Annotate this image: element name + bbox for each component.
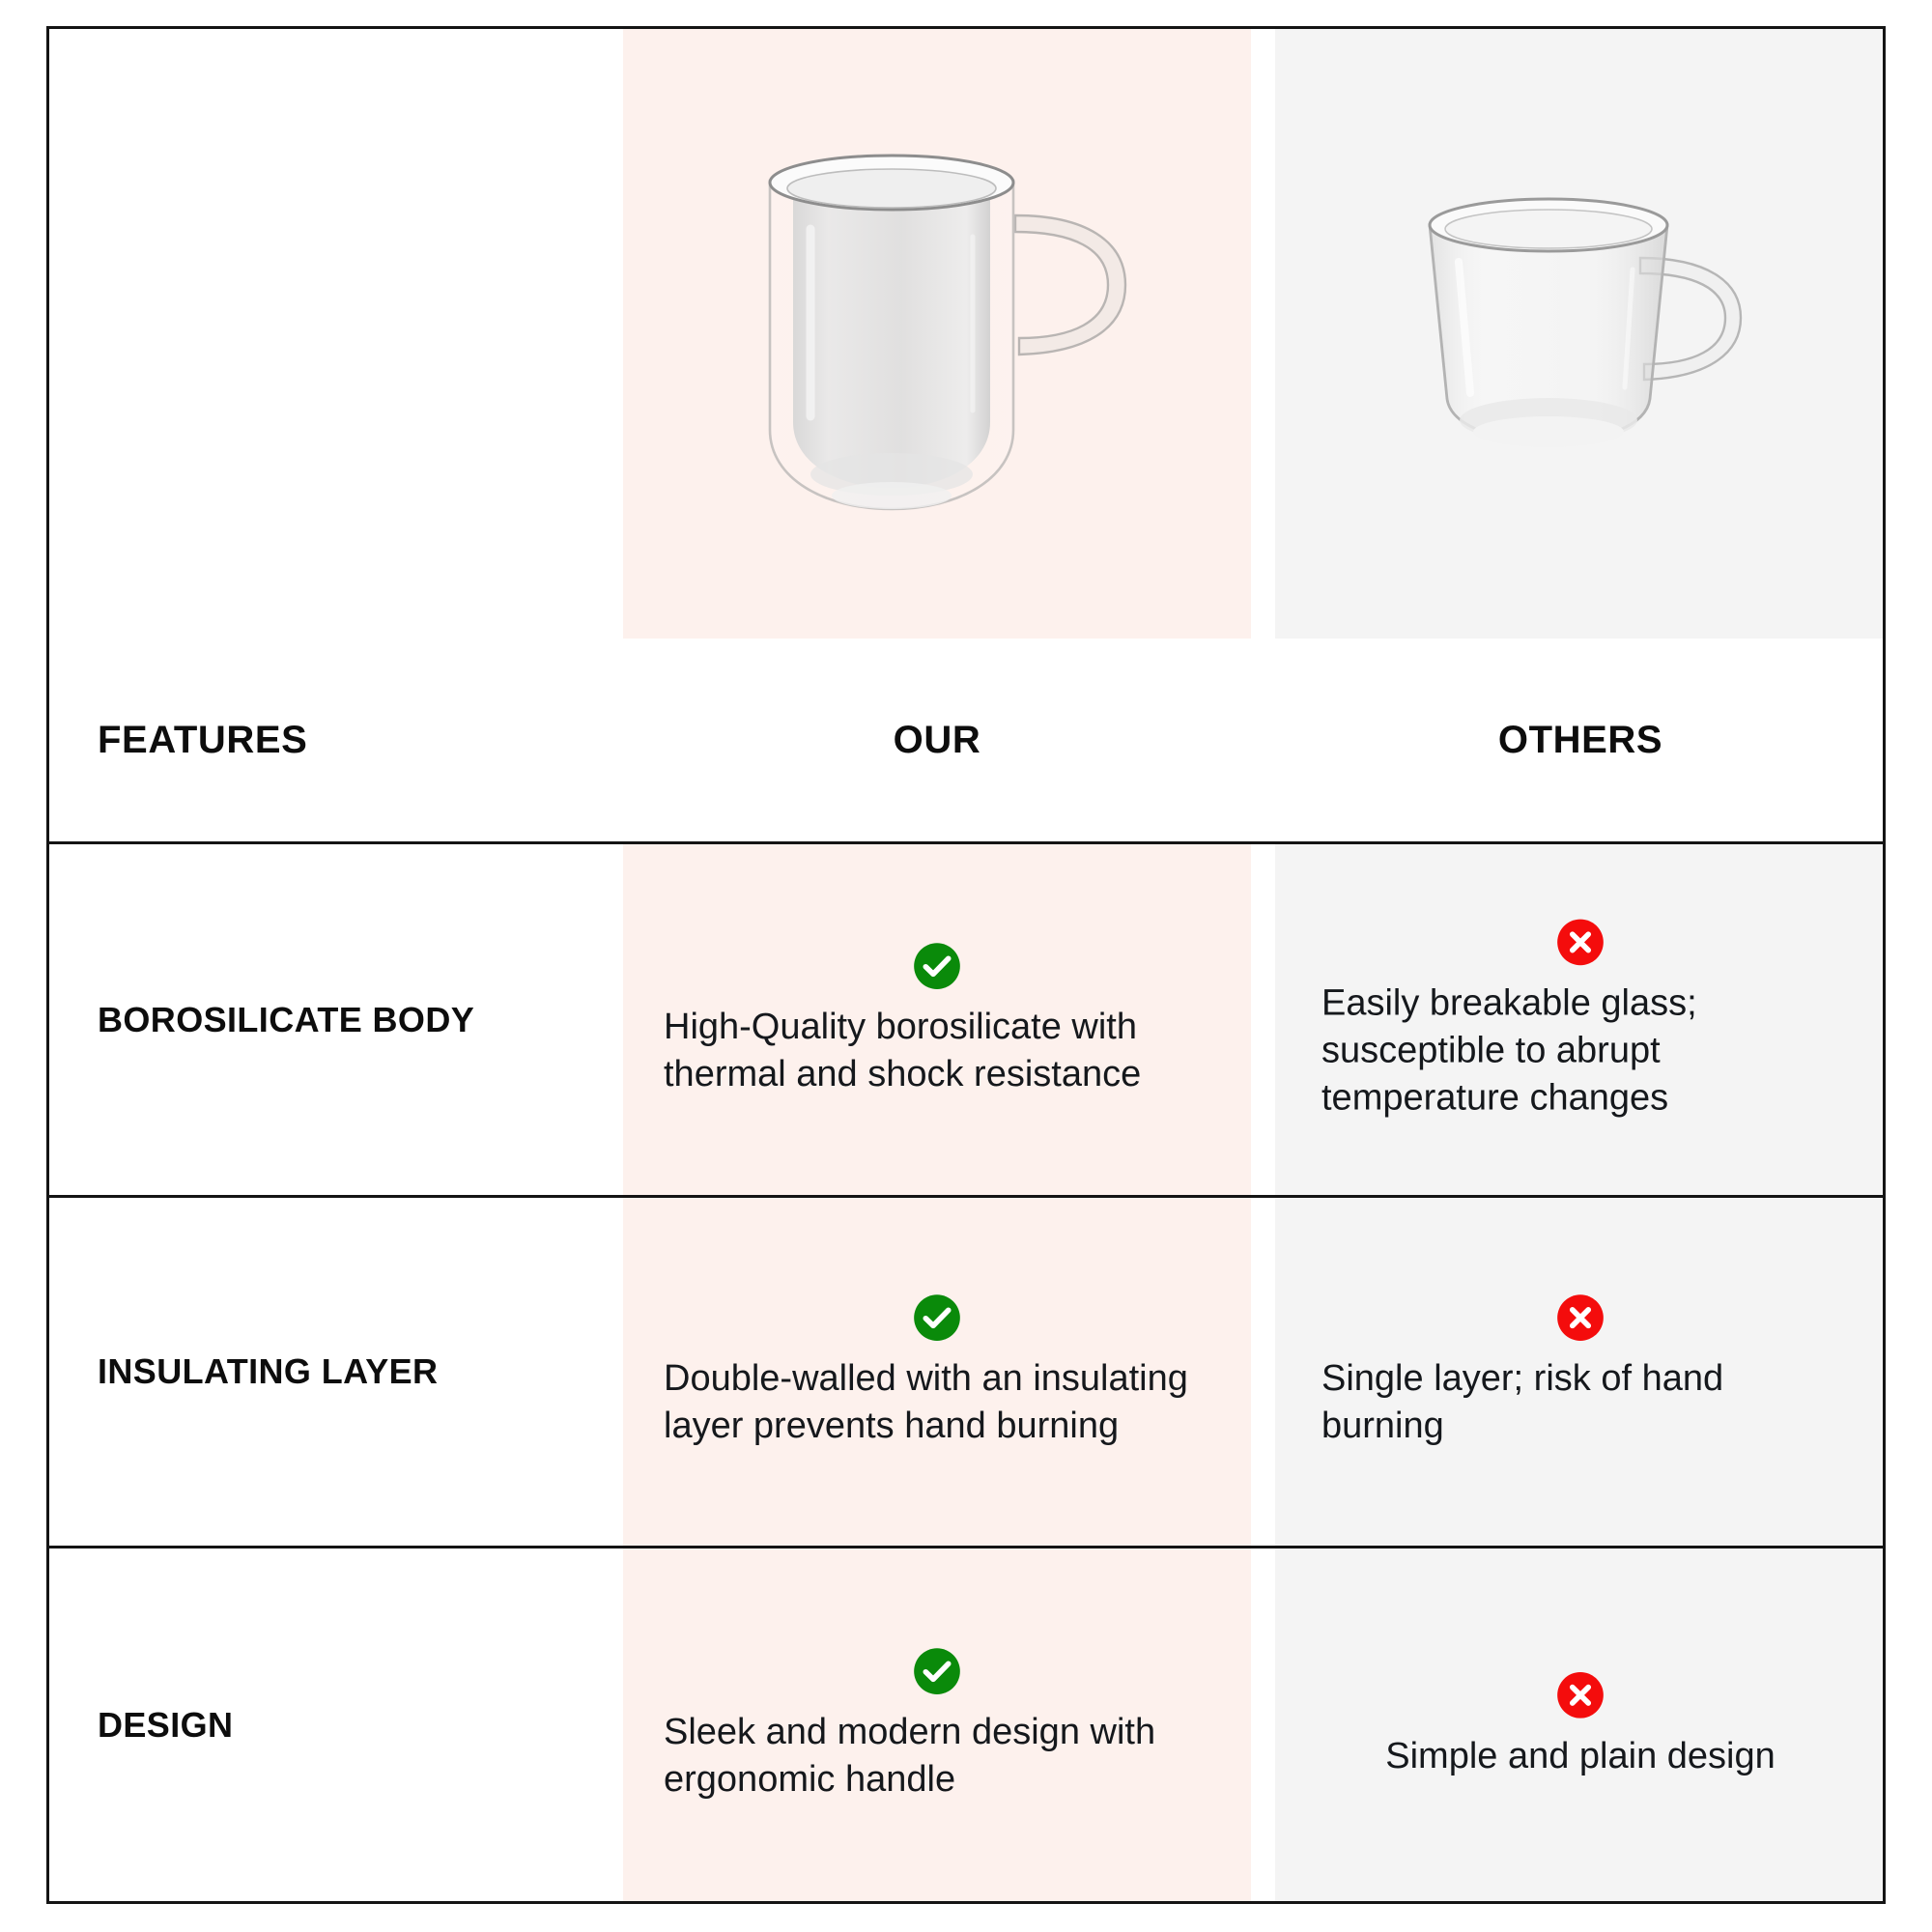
our-cell: Double-walled with an insulating layer p… — [623, 1198, 1251, 1546]
others-cell: Simple and plain design — [1275, 1548, 1886, 1901]
table-row: DESIGN — [49, 1548, 623, 1901]
header-cell-features: FEATURES — [49, 639, 623, 841]
others-cell: Easily breakable glass; susceptible to a… — [1275, 844, 1886, 1195]
header-cell-others: OTHERS — [1275, 639, 1886, 841]
cross-circle-icon — [1555, 917, 1605, 967]
others-product-image-cell — [1275, 28, 1886, 639]
feature-label: BOROSILICATE BODY — [98, 997, 474, 1043]
others-description: Easily breakable glass; susceptible to a… — [1321, 980, 1839, 1122]
double-walled-glass-mug-icon — [729, 140, 1145, 526]
header-cell-our: OUR — [623, 639, 1251, 841]
feature-label: INSULATING LAYER — [98, 1349, 438, 1395]
header-label-others: OTHERS — [1498, 719, 1662, 762]
our-product-image-cell — [623, 28, 1251, 639]
check-circle-icon — [912, 1293, 962, 1343]
our-mug-image — [623, 28, 1251, 639]
others-description: Single layer; risk of hand burning — [1321, 1355, 1839, 1451]
cross-circle-icon — [1555, 1293, 1605, 1343]
row-divider — [46, 841, 1886, 844]
table-row: INSULATING LAYER — [49, 1198, 623, 1546]
our-description: Double-walled with an insulating layer p… — [664, 1355, 1210, 1451]
table-row: BOROSILICATE BODY — [49, 844, 623, 1195]
our-description: High-Quality borosilicate with thermal a… — [664, 1004, 1210, 1099]
comparison-table-page: FEATURES OUR OTHERS BOROSILICATE BODY Hi… — [0, 0, 1932, 1932]
our-description: Sleek and modern design with ergonomic h… — [664, 1709, 1210, 1804]
header-label-features: FEATURES — [98, 719, 307, 762]
check-circle-icon — [912, 1646, 962, 1696]
header-label-our: OUR — [894, 719, 981, 762]
check-circle-icon — [912, 941, 962, 991]
feature-label: DESIGN — [98, 1702, 233, 1748]
row-divider — [46, 1546, 1886, 1548]
others-mug-image — [1275, 28, 1886, 639]
our-cell: High-Quality borosilicate with thermal a… — [623, 844, 1251, 1195]
others-cell: Single layer; risk of hand burning — [1275, 1198, 1886, 1546]
others-description: Simple and plain design — [1321, 1732, 1839, 1779]
row-divider — [46, 1195, 1886, 1198]
cross-circle-icon — [1555, 1669, 1605, 1719]
single-wall-glass-mug-icon — [1387, 188, 1774, 478]
our-cell: Sleek and modern design with ergonomic h… — [623, 1548, 1251, 1901]
